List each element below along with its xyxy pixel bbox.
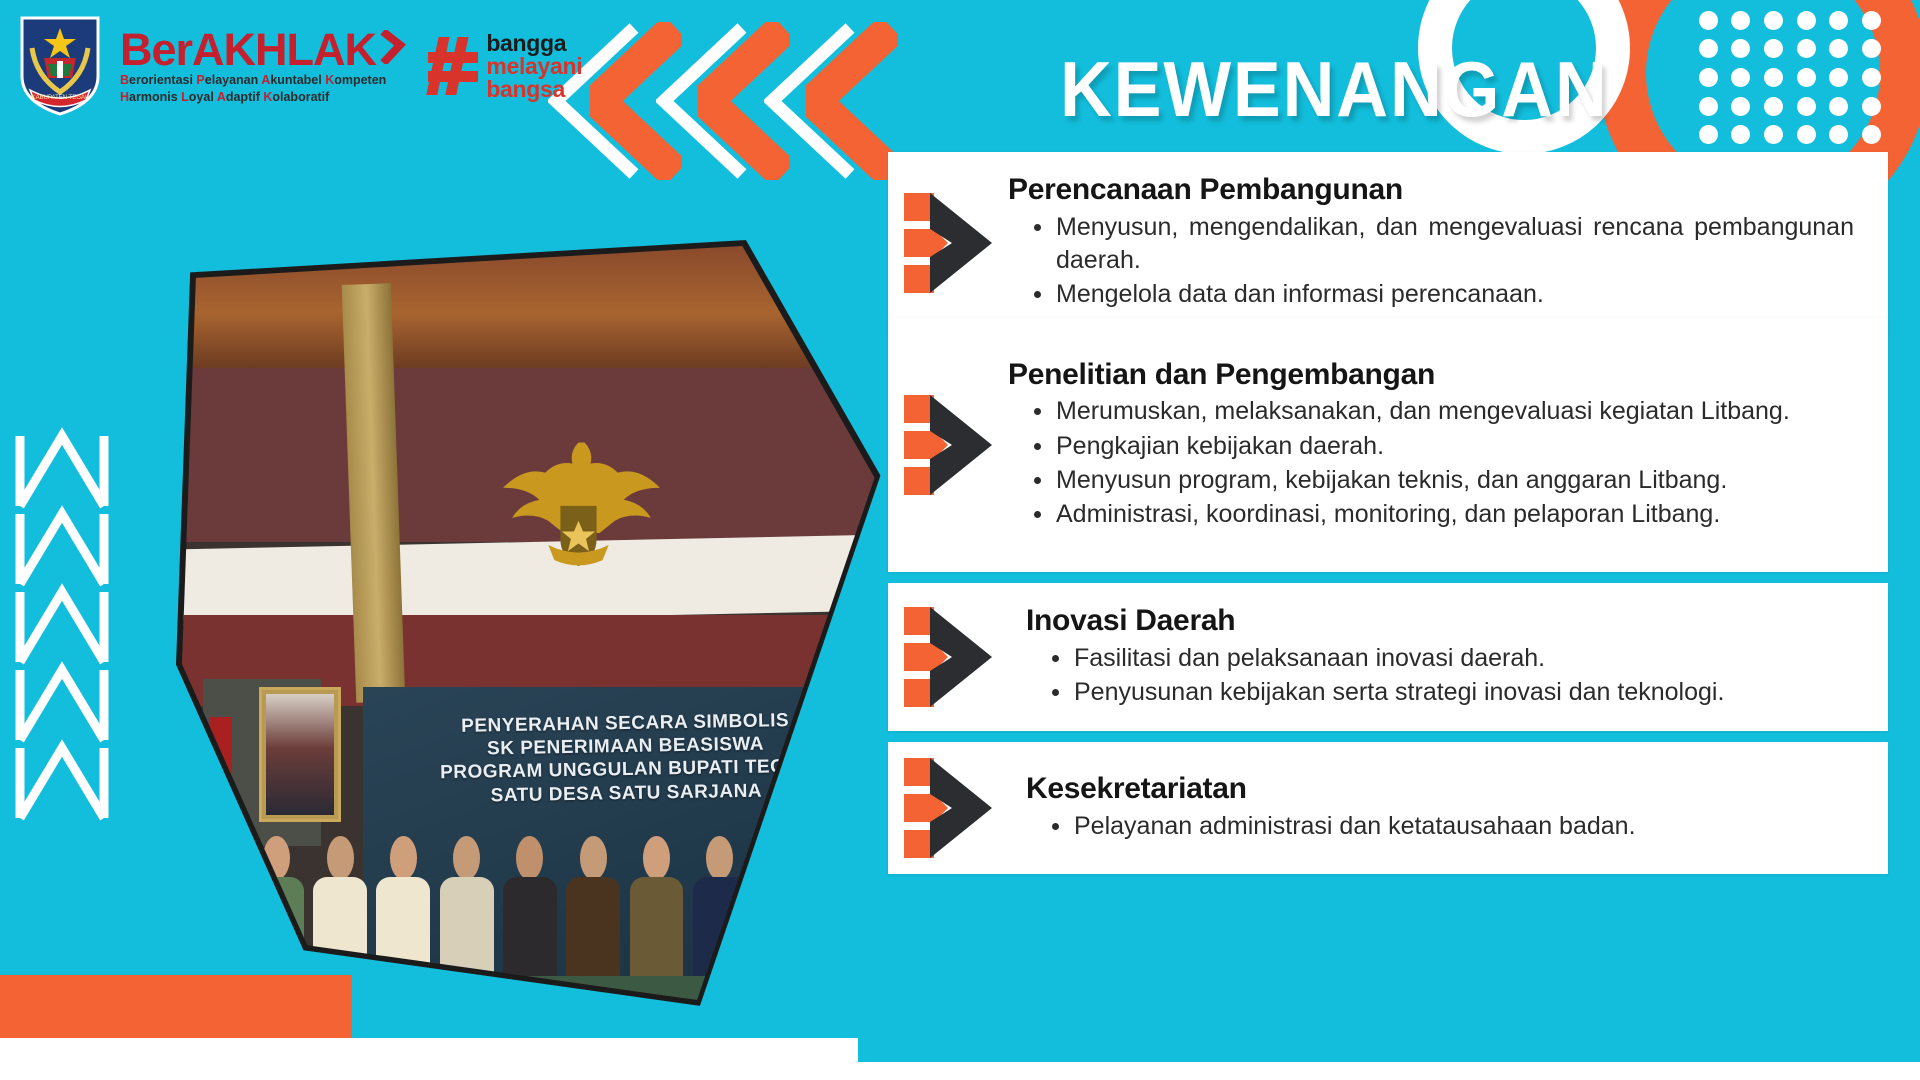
white-bottom-band	[0, 1038, 858, 1080]
card-perencanaan-pembangunan[interactable]: Perencanaan Pembangunan Menyusun, mengen…	[888, 152, 1888, 334]
berakhlak-prefix: Ber	[120, 24, 192, 75]
list-item-text: Merumuskan, melaksanakan, dan mengevalua…	[1056, 395, 1790, 428]
card-items: Merumuskan, melaksanakan, dan mengevalua…	[1008, 395, 1854, 531]
card-items: Fasilitasi dan pelaksanaan inovasi daera…	[1026, 642, 1854, 710]
garuda-emblem-icon	[488, 398, 669, 596]
card-kesekretariatan[interactable]: Kesekretariatan Pelayanan administrasi d…	[888, 742, 1888, 874]
berakhlak-subtitle-line1: Berorientasi Pelayanan Akuntabel Kompete…	[120, 73, 386, 88]
chevron-solid-icon	[806, 22, 898, 180]
list-item: Pengkajian kebijakan daerah.	[1034, 430, 1854, 463]
hash-icon	[426, 35, 480, 97]
list-item: Menyusun program, kebijakan teknis, dan …	[1034, 464, 1854, 497]
berakhlak-suffix: AKHLAK	[192, 24, 376, 75]
card-items: Menyusun, mengendalikan, dan mengevaluas…	[1008, 211, 1854, 312]
bangga-melayani-bangsa-logo: bangga melayani bangsa	[426, 32, 582, 101]
list-item-text: Menyusun, mengendalikan, dan mengevaluas…	[1056, 211, 1854, 278]
bangga-line1: bangga	[486, 32, 582, 55]
double-chevron-right-icon	[888, 601, 1008, 713]
berakhlak-subtitle-line2: Harmonis Loyal Adaptif Kolaboratif	[120, 90, 386, 105]
bangga-line2: melayani	[486, 55, 582, 78]
poster-canvas: KABUPATEN TEGAL BerAKHLAK Berorientasi P…	[0, 0, 1920, 1080]
left-chevron-decoration	[14, 388, 110, 828]
list-item-text: Menyusun program, kebijakan teknis, dan …	[1056, 464, 1727, 497]
double-chevron-right-icon	[888, 752, 1008, 864]
list-item: Menyusun, mengendalikan, dan mengevaluas…	[1034, 211, 1854, 278]
list-item-text: Mengelola data dan informasi perencanaan…	[1056, 278, 1544, 311]
list-item-text: Administrasi, koordinasi, monitoring, da…	[1056, 498, 1720, 531]
authority-cards: Perencanaan Pembangunan Menyusun, mengen…	[888, 0, 1920, 1080]
double-chevron-right-icon	[888, 187, 1008, 299]
card-title: Perencanaan Pembangunan	[1008, 173, 1854, 207]
card-title: Kesekretariatan	[1026, 772, 1854, 806]
list-item: Mengelola data dan informasi perencanaan…	[1034, 278, 1854, 311]
flag	[210, 717, 232, 884]
event-photo: PENYERAHAN SECARA SIMBOLIS SK PENERIMAAN…	[176, 240, 884, 1012]
orange-accent-block	[0, 975, 352, 1038]
card-title: Penelitian dan Pengembangan	[1008, 358, 1854, 392]
card-title: Inovasi Daerah	[1026, 604, 1854, 638]
list-item-text: Fasilitasi dan pelaksanaan inovasi daera…	[1074, 642, 1545, 675]
list-item: Fasilitasi dan pelaksanaan inovasi daera…	[1052, 642, 1854, 675]
list-item-text: Penyusunan kebijakan serta strategi inov…	[1074, 676, 1724, 709]
official-portrait	[259, 687, 342, 822]
list-item: Merumuskan, melaksanakan, dan mengevalua…	[1034, 395, 1854, 428]
berakhlak-wordmark: BerAKHLAK	[120, 28, 386, 71]
double-chevron-right-icon	[888, 389, 1008, 501]
list-item: Pelayanan administrasi dan ketatausahaan…	[1052, 810, 1854, 843]
list-item-text: Pelayanan administrasi dan ketatausahaan…	[1074, 810, 1636, 843]
kabupaten-tegal-crest-icon: KABUPATEN TEGAL	[18, 14, 102, 118]
card-inovasi-daerah[interactable]: Inovasi Daerah Fasilitasi dan pelaksanaa…	[888, 583, 1888, 731]
card-penelitian-dan-pengembangan[interactable]: Penelitian dan Pengembangan Merumuskan, …	[888, 318, 1888, 572]
logo-bar: KABUPATEN TEGAL BerAKHLAK Berorientasi P…	[18, 12, 582, 120]
top-chevron-decoration	[548, 22, 878, 182]
berakhlak-arrow-icon	[380, 30, 408, 64]
card-items: Pelayanan administrasi dan ketatausahaan…	[1026, 810, 1854, 843]
list-item: Penyusunan kebijakan serta strategi inov…	[1052, 676, 1854, 709]
list-item: Administrasi, koordinasi, monitoring, da…	[1034, 498, 1854, 531]
svg-text:KABUPATEN TEGAL: KABUPATEN TEGAL	[32, 95, 89, 101]
berakhlak-logo: BerAKHLAK Berorientasi Pelayanan Akuntab…	[120, 28, 386, 105]
list-item-text: Pengkajian kebijakan daerah.	[1056, 430, 1384, 463]
bangga-line3: bangsa	[486, 78, 582, 101]
